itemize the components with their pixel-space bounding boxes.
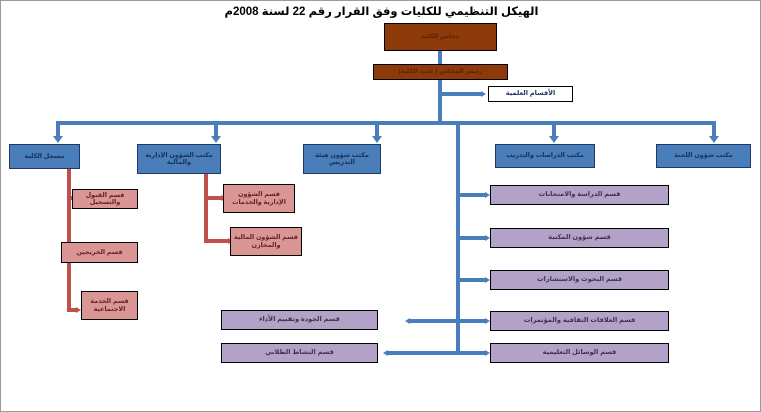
node-scientific-departments-label: الأقسام العلمية — [506, 90, 556, 97]
arrow-office-3 — [372, 136, 382, 143]
connector-studies-branch-1 — [456, 193, 485, 197]
arrow-office-1 — [53, 136, 63, 143]
org-chart-canvas: الهيكل التنظيمي للكليات وفق القرار رقم 2… — [0, 0, 761, 412]
node-dept-admissions-registration[interactable]: قسم القبول والتسجيل — [72, 189, 138, 209]
page-title: الهيكل التنظيمي للكليات وفق القرار رقم 2… — [1, 4, 761, 18]
connector-studies-branch-2 — [456, 236, 485, 240]
connector-registrar-branch-3 — [67, 308, 76, 312]
node-office-admin-finance[interactable]: مكتب الشؤون الإدارية والمالية — [137, 144, 221, 174]
connector-drop-office-1 — [56, 121, 60, 137]
node-dept-quality-performance-label: قسم الجودة وتقييم الأداء — [259, 316, 340, 323]
node-dept-cultural-relations-conferences-label: قسم العلاقات الثقافية والمؤتمرات — [524, 317, 636, 324]
node-office-faculty-affairs-label: مكتب شؤون هيئة التدريس — [306, 152, 378, 166]
node-dept-study-exams-label: قسم الدراسة والامتحانات — [539, 191, 621, 198]
connector-studies-branch-4 — [456, 319, 485, 323]
connector-admin-branch-2 — [204, 239, 228, 243]
node-college-council-label: مجلس الكلية — [421, 34, 459, 41]
node-office-studies-training-label: مكتب الدراسات والتدريب — [506, 152, 584, 159]
node-dept-educational-media[interactable]: قسم الوسائل التعليمية — [490, 343, 669, 363]
arrow-office-2 — [211, 136, 221, 143]
node-dept-research-consulting-label: قسم البحوث والاستشارات — [537, 276, 622, 283]
node-dept-admissions-registration-label: قسم القبول والتسجيل — [75, 192, 135, 206]
node-dept-library-affairs[interactable]: قسم شؤون المكتبة — [490, 228, 669, 248]
connector-chairman-trunk — [438, 80, 442, 122]
node-dept-admin-services-label: قسم الشؤون الإدارية والخدمات — [226, 191, 292, 205]
node-office-committee-affairs[interactable]: مكتب شؤون اللجنة — [656, 144, 751, 168]
node-office-registrar-label: مسجل الكلية — [25, 153, 65, 160]
node-dept-finance-stores-label: قسم الشؤون المالية والمخازن — [233, 234, 299, 248]
connector-council-to-chairman — [438, 51, 442, 64]
node-dept-library-affairs-label: قسم شؤون المكتبة — [548, 234, 611, 241]
connector-registrar-spine — [67, 169, 71, 312]
connector-studies-branch-3 — [456, 278, 485, 282]
connector-drop-office-3 — [375, 121, 379, 137]
node-dept-research-consulting[interactable]: قسم البحوث والاستشارات — [490, 270, 669, 290]
node-dept-student-activity-label: قسم النشاط الطلابي — [265, 349, 334, 356]
connector-drop-office-2 — [214, 121, 218, 137]
node-office-studies-training[interactable]: مكتب الدراسات والتدريب — [495, 144, 595, 168]
node-dept-educational-media-label: قسم الوسائل التعليمية — [543, 349, 617, 356]
node-dept-admin-services[interactable]: قسم الشؤون الإدارية والخدمات — [223, 184, 295, 213]
arrow-office-5 — [709, 136, 719, 143]
node-chairman-label: رئيس المجلس ( عميد الكلية) — [399, 69, 483, 76]
node-dept-quality-performance[interactable]: قسم الجودة وتقييم الأداء — [221, 310, 378, 330]
node-dept-social-service[interactable]: قسم الخدمة الاجتماعية — [81, 291, 138, 320]
node-dept-graduates-label: قسم الخريجين — [77, 249, 123, 256]
node-college-council[interactable]: مجلس الكلية — [384, 23, 497, 51]
connector-drop-office-5 — [712, 121, 716, 137]
arrow-support-dept-1 — [405, 318, 410, 324]
node-dept-student-activity[interactable]: قسم النشاط الطلابي — [221, 343, 378, 363]
node-dept-cultural-relations-conferences[interactable]: قسم العلاقات الثقافية والمؤتمرات — [490, 311, 669, 331]
arrow-scientific-departments — [481, 91, 486, 97]
connector-drop-office-4 — [552, 121, 556, 137]
connector-to-scientific-departments — [442, 92, 481, 96]
connector-admin-branch-1 — [204, 196, 221, 200]
node-scientific-departments[interactable]: الأقسام العلمية — [488, 86, 573, 102]
node-dept-social-service-label: قسم الخدمة الاجتماعية — [84, 298, 135, 312]
node-office-faculty-affairs[interactable]: مكتب شؤون هيئة التدريس — [303, 144, 381, 174]
connector-office-bus — [56, 121, 716, 125]
node-dept-study-exams[interactable]: قسم الدراسة والامتحانات — [490, 185, 669, 205]
node-office-registrar[interactable]: مسجل الكلية — [9, 144, 80, 169]
node-office-admin-finance-label: مكتب الشؤون الإدارية والمالية — [140, 152, 218, 166]
node-office-committee-affairs-label: مكتب شؤون اللجنة — [674, 152, 733, 159]
node-dept-finance-stores[interactable]: قسم الشؤون المالية والمخازن — [230, 227, 302, 256]
connector-studies-branch-5 — [456, 351, 485, 355]
connector-support-branch-2 — [388, 351, 456, 355]
arrow-office-4 — [549, 136, 559, 143]
node-dept-graduates[interactable]: قسم الخريجين — [61, 242, 138, 263]
arrow-support-dept-2 — [383, 350, 388, 356]
connector-support-branch-1 — [410, 319, 456, 323]
connector-admin-spine — [204, 174, 208, 241]
node-chairman[interactable]: رئيس المجلس ( عميد الكلية) — [373, 64, 508, 80]
